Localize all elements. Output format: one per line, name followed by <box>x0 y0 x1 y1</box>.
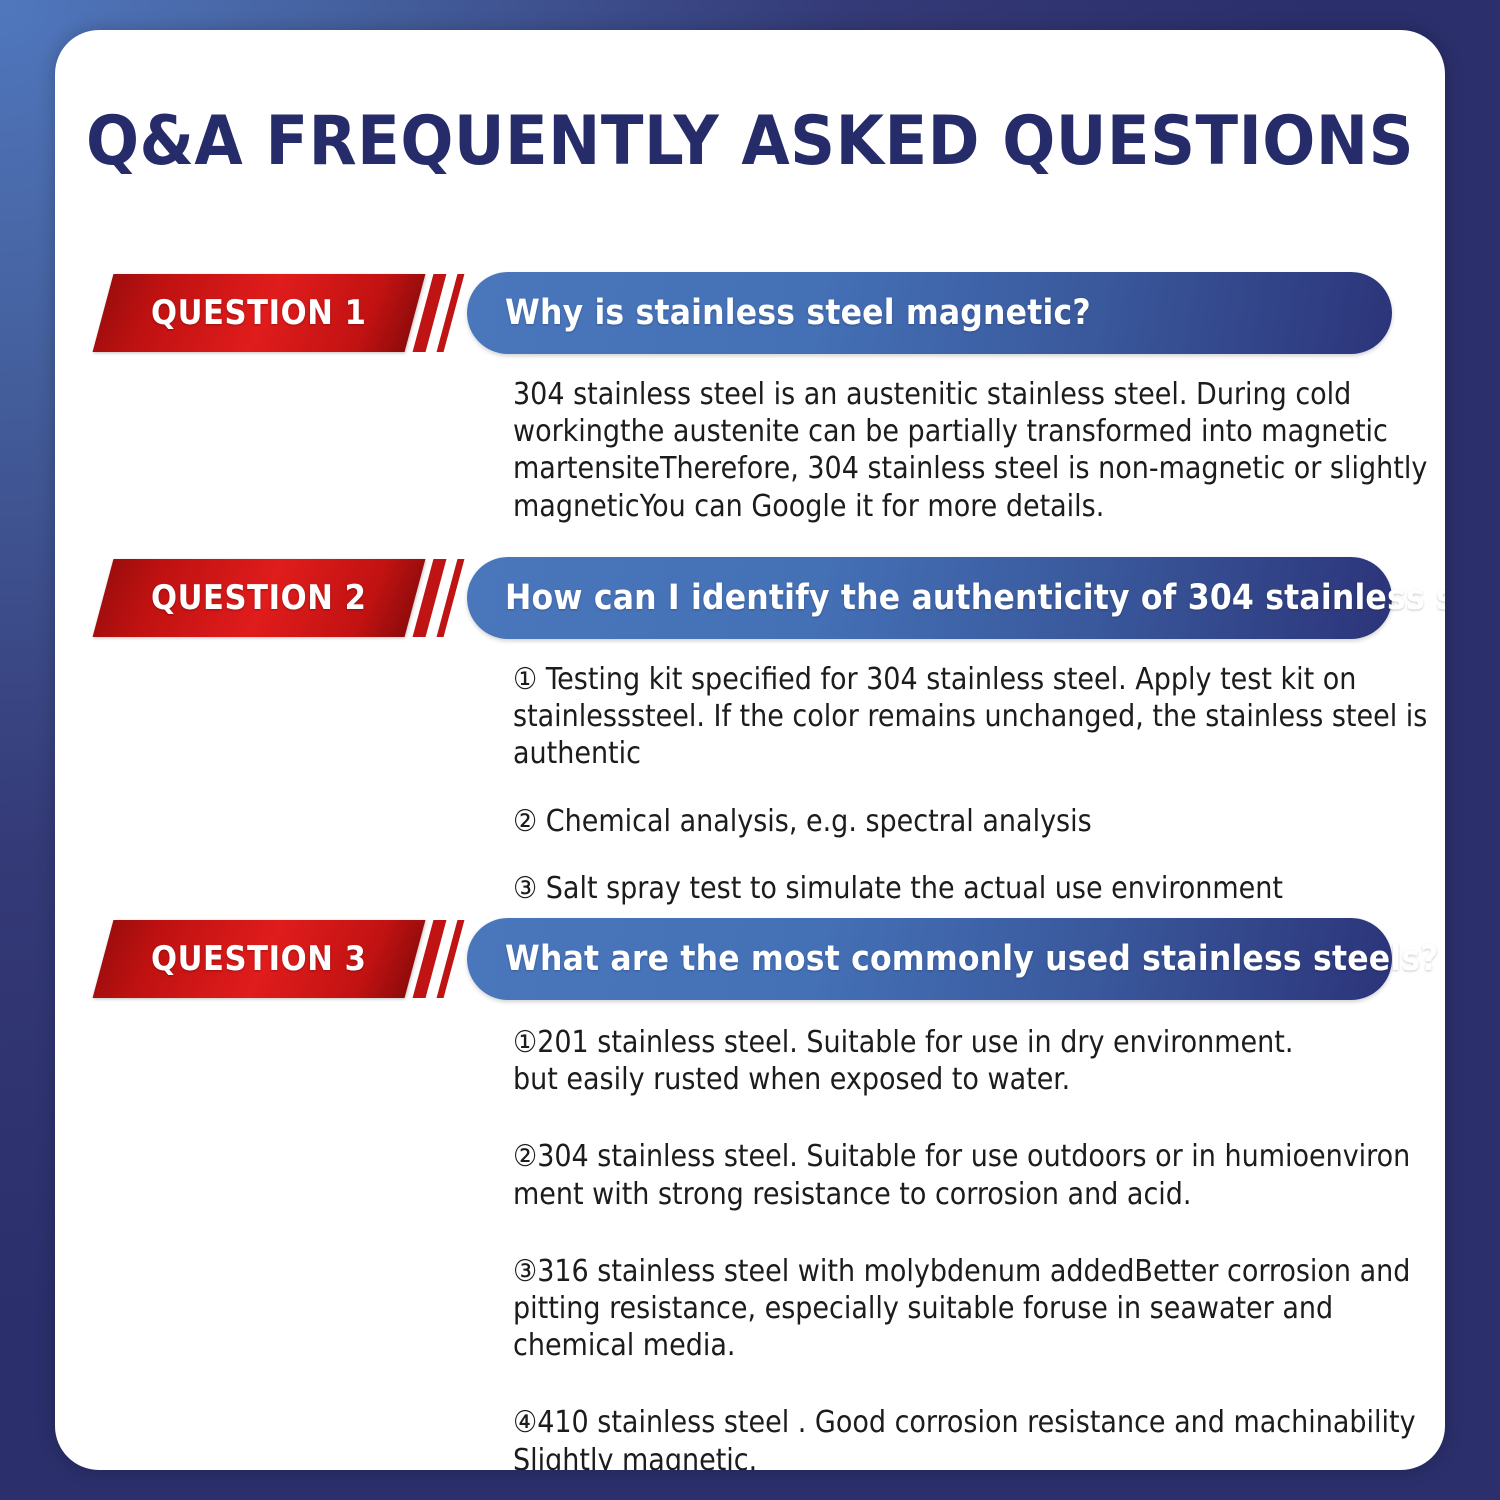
faq-card: Q&A FREQUENTLY ASKED QUESTIONS QUESTION … <box>55 30 1445 1470</box>
question-badge-label-1: QUESTION 1 <box>151 293 367 333</box>
answer-paragraph: ③ Salt spray test to simulate the actual… <box>513 870 1443 907</box>
answer-paragraph: ①201 stainless steel. Suitable for use i… <box>513 1024 1443 1098</box>
question-badge-3[interactable]: QUESTION 3 <box>93 920 426 998</box>
question-block-2: QUESTION 2 How can I identify the authen… <box>55 557 1445 641</box>
question-block-3: QUESTION 3 What are the most commonly us… <box>55 918 1445 1002</box>
question-block-1: QUESTION 1 Why is stainless steel magnet… <box>55 272 1445 356</box>
answer-body-2: ① Testing kit specified for 304 stainles… <box>513 661 1443 907</box>
answer-paragraph: ① Testing kit specified for 304 stainles… <box>513 661 1443 773</box>
question-badge-label-2: QUESTION 2 <box>151 578 367 618</box>
question-badge-1[interactable]: QUESTION 1 <box>93 274 426 352</box>
answer-body-3: ①201 stainless steel. Suitable for use i… <box>513 1024 1443 1470</box>
question-heading-3: What are the most commonly used stainles… <box>505 939 1439 979</box>
answer-paragraph: ② Chemical analysis, e.g. spectral analy… <box>513 803 1443 840</box>
answer-paragraph: 304 stainless steel is an austenitic sta… <box>513 376 1443 525</box>
question-heading-1: Why is stainless steel magnetic? <box>505 293 1091 333</box>
answer-body-1: 304 stainless steel is an austenitic sta… <box>513 376 1443 525</box>
answer-paragraph: ②304 stainless steel. Suitable for use o… <box>513 1138 1443 1212</box>
question-title-bar-2[interactable]: How can I identify the authenticity of 3… <box>467 557 1392 639</box>
page-title: Q&A FREQUENTLY ASKED QUESTIONS <box>55 102 1445 181</box>
question-title-bar-1[interactable]: Why is stainless steel magnetic? <box>467 272 1392 354</box>
question-badge-label-3: QUESTION 3 <box>151 939 367 979</box>
question-header-2: QUESTION 2 How can I identify the authen… <box>55 557 1445 641</box>
question-badge-2[interactable]: QUESTION 2 <box>93 559 426 637</box>
question-header-1: QUESTION 1 Why is stainless steel magnet… <box>55 272 1445 356</box>
question-header-3: QUESTION 3 What are the most commonly us… <box>55 918 1445 1002</box>
answer-paragraph: ④410 stainless steel . Good corrosion re… <box>513 1404 1443 1470</box>
question-heading-2: How can I identify the authenticity of 3… <box>505 578 1445 618</box>
question-title-bar-3[interactable]: What are the most commonly used stainles… <box>467 918 1392 1000</box>
answer-paragraph: ③316 stainless steel with molybdenum add… <box>513 1253 1443 1365</box>
